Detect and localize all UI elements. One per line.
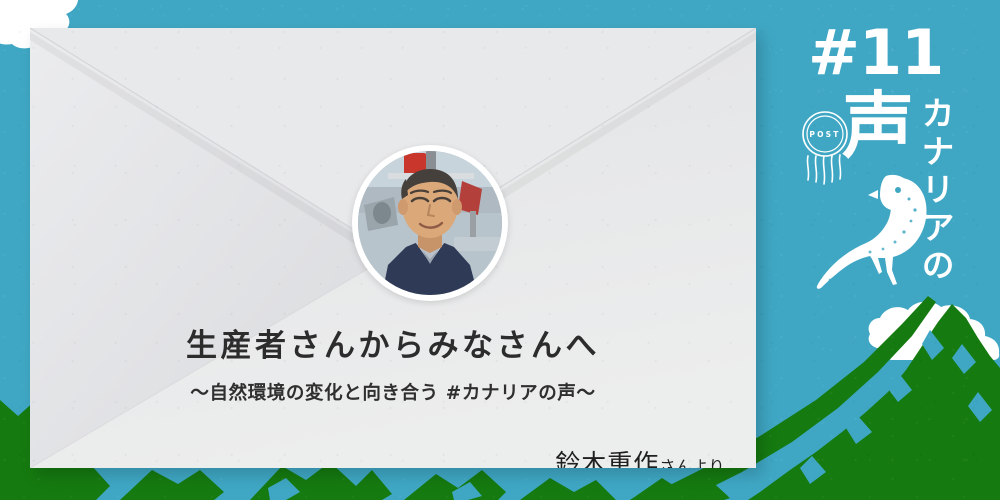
signature-suffix: さんより	[659, 457, 725, 468]
page-title: 生産者さんからみなさんへ	[30, 328, 756, 366]
signature-name: 鈴木重作	[555, 449, 659, 468]
signature: 鈴木重作さんより	[555, 444, 725, 468]
banner-canvas: 生産者さんからみなさんへ 〜自然環境の変化と向き合う #カナリアの声〜 鈴木重作…	[0, 0, 1000, 500]
avatar-image-clip	[358, 151, 502, 295]
avatar	[352, 145, 508, 301]
brand-column: #11 POST 声 カナリアの	[756, 0, 1000, 500]
page-subtitle: 〜自然環境の変化と向き合う #カナリアの声〜	[30, 379, 756, 405]
envelope-text-block: 生産者さんからみなさんへ 〜自然環境の変化と向き合う #カナリアの声〜	[30, 328, 756, 405]
issue-number: #11	[808, 22, 943, 84]
bird-icon	[814, 166, 932, 292]
canary-bird	[814, 166, 932, 292]
producer-photo	[358, 151, 502, 295]
envelope-card: 生産者さんからみなさんへ 〜自然環境の変化と向き合う #カナリアの声〜 鈴木重作…	[30, 28, 756, 468]
koe-kanji: 声	[842, 90, 914, 162]
